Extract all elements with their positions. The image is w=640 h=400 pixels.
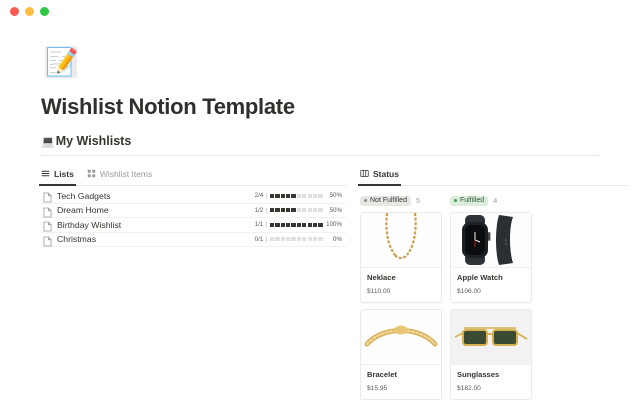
gold-tennis-bracelet-image [361, 310, 441, 365]
progress-percent: 50% [325, 192, 342, 199]
progress-segment [281, 223, 285, 227]
progress-percent: 100% [325, 221, 342, 228]
progress-percent: 50% [325, 207, 342, 214]
progress-segment [313, 223, 317, 227]
progress-separator: | [266, 221, 268, 228]
progress-separator: | [266, 192, 268, 199]
list-item-name: Tech Gadgets [57, 191, 255, 201]
status-badge: Not Fulfilled [360, 196, 411, 206]
tab-status-label: Status [373, 169, 399, 179]
minimize-button[interactable] [25, 7, 34, 16]
progress-segment [297, 194, 301, 198]
page-icon [43, 234, 52, 245]
board-card[interactable]: Apple Watch $106.00 [450, 212, 532, 303]
board-card[interactable]: Sunglasses $182.00 [450, 309, 532, 400]
app-window: 📝 Wishlist Notion Template 💻 My Wishlist… [0, 0, 640, 400]
progress-fraction: 1/2 [255, 207, 264, 214]
list-item-name: Christmas [57, 234, 255, 244]
column-header[interactable]: Fulfilled 4 [450, 194, 530, 207]
progress-segment [291, 223, 295, 227]
list-item-name: Dream Home [57, 205, 255, 215]
grid-icon [87, 169, 96, 178]
progress-segment [286, 194, 290, 198]
progress-segment [270, 237, 274, 241]
board-card[interactable]: Bracelet $15.95 [360, 309, 442, 400]
card-title: Bracelet [367, 370, 435, 379]
card-price: $106.00 [457, 288, 525, 295]
board-card[interactable]: Neklace $110.00 [360, 212, 442, 303]
progress-fraction: 1/1 [255, 221, 264, 228]
progress-segment [308, 194, 312, 198]
status-label: Not Fulfilled [370, 197, 407, 204]
status-label: Fulfilled [460, 197, 484, 204]
column-count: 5 [416, 196, 420, 205]
list-item[interactable]: Dream Home 1/2 | 50% [41, 204, 346, 219]
progress-segment [308, 208, 312, 212]
progress-segment [318, 194, 322, 198]
progress-segment [286, 223, 290, 227]
zoom-button[interactable] [40, 7, 49, 16]
progress-segment [313, 194, 317, 198]
card-price: $110.00 [367, 288, 435, 295]
column-count: 4 [493, 196, 497, 205]
progress-segment [291, 237, 295, 241]
card-title: Apple Watch [457, 273, 525, 282]
page-title[interactable]: Wishlist Notion Template [41, 94, 640, 120]
card-body: Apple Watch $106.00 [451, 268, 531, 302]
board-icon [360, 169, 369, 178]
progress-bar [270, 237, 323, 241]
gold-chain-necklace-image [361, 213, 441, 268]
progress-segment [281, 194, 285, 198]
section-heading-label: My Wishlists [56, 134, 132, 148]
status-dot-icon [454, 199, 457, 202]
card-body: Sunglasses $182.00 [451, 365, 531, 399]
close-button[interactable] [10, 7, 19, 16]
progress-segment [313, 208, 317, 212]
progress-segment [286, 237, 290, 241]
card-price: $15.95 [367, 385, 435, 392]
progress-segment [302, 237, 306, 241]
progress-segment [318, 237, 322, 241]
progress-segment [297, 208, 301, 212]
lists-database: Lists Wishlist Items [41, 164, 346, 400]
section-heading: 💻 My Wishlists [41, 134, 640, 148]
progress-segment [270, 208, 274, 212]
progress-indicator: 1/2 | 50% [255, 207, 342, 214]
apple-watch-black-image [451, 213, 531, 268]
progress-segment [318, 208, 322, 212]
page-icon [43, 205, 52, 216]
progress-segment [291, 194, 295, 198]
list-item[interactable]: Birthday Wishlist 1/1 | 100% [41, 218, 346, 233]
board-column-fulfilled: Fulfilled 4 [450, 194, 530, 400]
tab-lists[interactable]: Lists [41, 164, 74, 183]
tab-lists-label: Lists [54, 169, 74, 179]
progress-segment [270, 223, 274, 227]
progress-separator: | [266, 207, 268, 214]
page-icon [43, 219, 52, 230]
progress-segment [291, 208, 295, 212]
progress-segment [270, 194, 274, 198]
progress-indicator: 2/4 | 50% [255, 192, 342, 199]
progress-segment [297, 223, 301, 227]
status-view-tabs: Status [360, 164, 630, 186]
list-icon [41, 169, 50, 178]
progress-segment [275, 237, 279, 241]
progress-segment [275, 223, 279, 227]
column-header[interactable]: Not Fulfilled 5 [360, 194, 440, 207]
progress-segment [302, 208, 306, 212]
progress-bar [270, 223, 323, 227]
progress-percent: 0% [325, 236, 342, 243]
list-item[interactable]: Christmas 0/1 | 0% [41, 233, 346, 248]
progress-indicator: 1/1 | 100% [255, 221, 342, 228]
progress-separator: | [266, 236, 268, 243]
status-dot-icon [364, 199, 367, 202]
progress-segment [302, 223, 306, 227]
tab-wishlist-items-label: Wishlist Items [100, 169, 152, 179]
status-database: Status Not Fulfilled 5 [360, 164, 630, 400]
progress-bar [270, 208, 323, 212]
progress-segment [275, 194, 279, 198]
card-price: $182.00 [457, 385, 525, 392]
progress-segment [318, 223, 322, 227]
window-titlebar [0, 0, 640, 22]
progress-segment [308, 223, 312, 227]
heading-divider [41, 155, 599, 156]
progress-segment [302, 194, 306, 198]
progress-segment [281, 208, 285, 212]
list-item[interactable]: Tech Gadgets 2/4 | 50% [41, 189, 346, 204]
progress-bar [270, 194, 323, 198]
page-icon [43, 190, 52, 201]
card-title: Neklace [367, 273, 435, 282]
card-body: Neklace $110.00 [361, 268, 441, 302]
tab-wishlist-items[interactable]: Wishlist Items [87, 164, 152, 183]
card-title: Sunglasses [457, 370, 525, 379]
progress-segment [313, 237, 317, 241]
progress-fraction: 2/4 [255, 192, 264, 199]
board-column-not-fulfilled: Not Fulfilled 5 [360, 194, 440, 400]
lists-view-tabs: Lists Wishlist Items [41, 164, 346, 186]
status-badge: Fulfilled [450, 196, 488, 206]
memo-emoji[interactable]: 📝 [45, 46, 77, 78]
progress-fraction: 0/1 [255, 236, 264, 243]
panes: Lists Wishlist Items [0, 164, 640, 400]
progress-segment [275, 208, 279, 212]
tab-status[interactable]: Status [360, 164, 399, 183]
progress-segment [281, 237, 285, 241]
page-content: 📝 Wishlist Notion Template 💻 My Wishlist… [0, 46, 640, 400]
progress-indicator: 0/1 | 0% [255, 236, 342, 243]
progress-segment [286, 208, 290, 212]
progress-segment [308, 237, 312, 241]
progress-segment [297, 237, 301, 241]
list-item-name: Birthday Wishlist [57, 220, 255, 230]
laptop-emoji: 💻 [41, 137, 55, 148]
status-board: Not Fulfilled 5 [360, 194, 630, 400]
gold-aviator-sunglasses-image [451, 310, 531, 365]
lists-rows: Tech Gadgets 2/4 | 50% [41, 189, 346, 247]
card-body: Bracelet $15.95 [361, 365, 441, 399]
